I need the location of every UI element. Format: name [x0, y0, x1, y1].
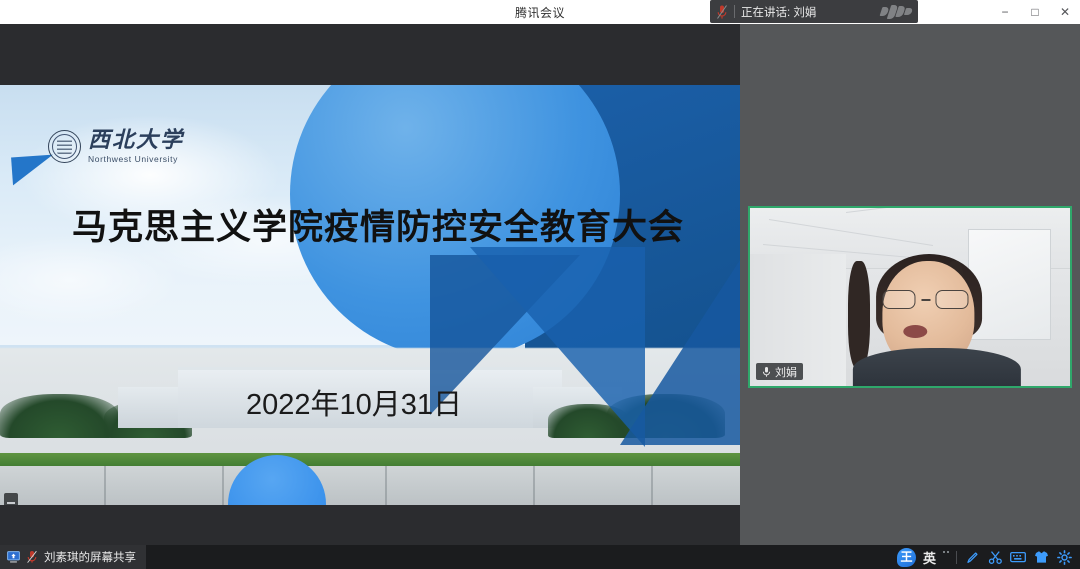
ime-mode-button[interactable]: 英: [923, 548, 936, 567]
speaking-label: 正在讲话: 刘娟: [741, 4, 875, 20]
ime-punctuation-icon[interactable]: [943, 551, 949, 563]
soft-keyboard-icon[interactable]: [1010, 549, 1026, 565]
university-name-en: Northwest University: [88, 154, 184, 164]
presentation-slide: 西北大学 Northwest University 马克思主义学院疫情防控安全教…: [0, 85, 740, 505]
maximize-button[interactable]: □: [1020, 0, 1050, 24]
microphone-red-icon: [716, 4, 728, 20]
participant-name-badge: 刘娟: [756, 363, 803, 380]
slide-date: 2022年10月31日: [246, 381, 462, 423]
active-speaker-indicator: 正在讲话: 刘娟: [710, 0, 918, 23]
ime-divider: [956, 551, 957, 564]
university-seal-icon: [48, 130, 81, 163]
ime-logo-icon[interactable]: 王: [897, 548, 916, 567]
pill-divider: [734, 5, 735, 18]
ime-toolbar[interactable]: 王 英: [893, 545, 1076, 569]
audio-waveform-icon: [881, 5, 912, 19]
screen-share-status[interactable]: 刘素琪的屏幕共享: [0, 545, 146, 569]
microphone-red-icon: [26, 550, 38, 564]
minimize-button[interactable]: −: [990, 0, 1020, 24]
settings-gear-icon[interactable]: [1056, 549, 1072, 565]
participant-video-tile[interactable]: 刘娟: [748, 206, 1072, 388]
scissors-screenshot-icon[interactable]: [987, 549, 1003, 565]
slide-title: 马克思主义学院疫情防控安全教育大会: [72, 209, 672, 248]
university-logo: 西北大学 Northwest University: [48, 129, 184, 164]
participant-name: 刘娟: [775, 364, 797, 380]
title-bar: 腾讯会议 正在讲话: 刘娟 − □ ✕: [0, 0, 1080, 24]
skin-theme-icon[interactable]: [1033, 549, 1049, 565]
participant-panel: 刘娟: [740, 24, 1080, 545]
bottom-bar: 刘素琪的屏幕共享 王 英: [0, 545, 1080, 569]
meeting-window: 腾讯会议 正在讲话: 刘娟 − □ ✕: [0, 0, 1080, 569]
app-title: 腾讯会议: [515, 4, 565, 21]
slide-triangle-accent: [620, 260, 740, 445]
window-controls: − □ ✕: [990, 0, 1080, 24]
shared-screen-area[interactable]: 西北大学 Northwest University 马克思主义学院疫情防控安全教…: [0, 24, 740, 545]
presenter-toolbar[interactable]: [4, 493, 18, 505]
share-presenter-label: 刘素琪的屏幕共享: [44, 549, 136, 565]
close-button[interactable]: ✕: [1050, 0, 1080, 24]
university-name-cn: 西北大学: [88, 129, 184, 151]
screen-share-icon: [7, 551, 20, 563]
handwriting-pen-icon[interactable]: [964, 549, 980, 565]
microphone-icon: [762, 366, 771, 378]
video-feed: [750, 208, 1070, 386]
slide-triangle-accent: [470, 247, 645, 447]
